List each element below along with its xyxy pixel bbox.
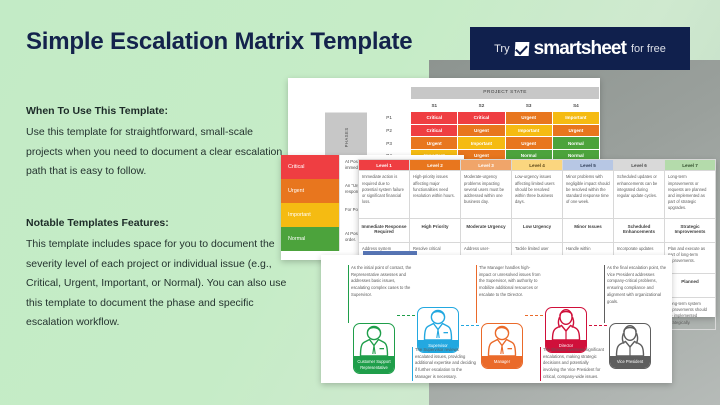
workflow-role-label: Vice President <box>610 356 650 368</box>
workflow-connector <box>397 315 415 316</box>
matrix-cell[interactable]: Urgent <box>505 112 552 125</box>
workflow-note: As the final escalation point, the Vice … <box>607 265 669 305</box>
matrix-state-S1: S1 <box>411 99 458 112</box>
level-name: High Priority <box>410 219 461 243</box>
workflow-role-label: Manager <box>482 356 522 368</box>
level-name: Low Urgency <box>512 219 563 243</box>
workflow-avatar <box>610 324 650 356</box>
workflow-badge[interactable]: Vice President <box>609 323 651 369</box>
when-to-use-block: When To Use This Template: Use this temp… <box>26 103 288 182</box>
workflow-accent-bar <box>604 265 605 323</box>
level-header[interactable]: Level 7 <box>665 160 716 171</box>
level-description: High-priority issues affecting major fun… <box>410 171 461 219</box>
matrix-cell[interactable]: Normal <box>552 137 599 150</box>
level-name: Moderate Urgency <box>461 219 512 243</box>
matrix-phase-P1: P1 <box>368 112 411 125</box>
workflow-accent-bar <box>540 347 541 381</box>
severity-key: Normal <box>281 227 339 251</box>
escalation-workflow-card[interactable]: Customer Support RepresentativeAs the in… <box>321 255 672 383</box>
matrix-cell[interactable]: Important <box>552 112 599 125</box>
matrix-cell[interactable]: Urgent <box>505 137 552 150</box>
level-header[interactable]: Level 4 <box>512 160 563 171</box>
workflow-note: The Supervisor reviews escalated issues,… <box>415 347 477 381</box>
smartsheet-wordmark: smartsheet <box>534 38 626 60</box>
workflow-role-label: Customer Support Representative <box>354 356 394 373</box>
workflow-note: The Director oversees significant escala… <box>543 347 605 381</box>
level-header[interactable]: Level 2 <box>410 160 461 171</box>
page-title: Simple Escalation Matrix Template <box>26 28 456 56</box>
level-description: Minor problems with negligible impact sh… <box>563 171 614 219</box>
levels-extra-head: Planned <box>665 274 716 298</box>
workflow-accent-bar <box>412 347 413 381</box>
matrix-state-header: PROJECT STATE <box>411 87 600 100</box>
matrix-cell[interactable]: Urgent <box>458 124 505 137</box>
level-name: Minor Issues <box>563 219 614 243</box>
level-header[interactable]: Level 6 <box>614 160 665 171</box>
workflow-avatar <box>546 308 586 340</box>
levels-extra-text: Long-term system improvements should be … <box>665 298 716 330</box>
workflow-badge[interactable]: Customer Support Representative <box>353 323 395 374</box>
workflow-avatar <box>354 324 394 356</box>
level-header[interactable]: Level 5 <box>563 160 614 171</box>
level-description: Moderate-urgency problems impacting seve… <box>461 171 512 219</box>
person-icon <box>551 308 581 340</box>
workflow-connector <box>461 325 479 326</box>
banner-forfree-label: for free <box>631 43 666 55</box>
matrix-state-S3: S3 <box>505 99 552 112</box>
level-description: Scheduled updates or enhancements can be… <box>614 171 665 219</box>
workflow-connector <box>525 315 543 316</box>
escalation-matrix-table: PROJECT STATES1S2S3S4PHASESP1CriticalCri… <box>324 86 600 163</box>
workflow-badge[interactable]: Manager <box>481 323 523 369</box>
matrix-cell[interactable]: Critical <box>458 112 505 125</box>
level-description: Immediate action is required due to pote… <box>359 171 410 219</box>
notable-features-heading: Notable Templates Features: <box>26 215 288 231</box>
severity-key: Urgent <box>281 179 339 203</box>
workflow-stage[interactable]: Manager <box>481 323 523 369</box>
levels-header-row: Level 1Level 2Level 3Level 4Level 5Level… <box>359 160 716 171</box>
workflow-connector <box>589 325 607 326</box>
person-icon <box>423 308 453 340</box>
matrix-cell[interactable]: Important <box>505 124 552 137</box>
workflow-accent-bar <box>348 265 349 323</box>
person-icon <box>615 324 645 356</box>
level-name: Scheduled Enhancements <box>614 219 665 243</box>
matrix-cell[interactable]: Urgent <box>552 124 599 137</box>
matrix-cell[interactable]: Important <box>458 137 505 150</box>
checkbox-check-icon <box>514 42 529 56</box>
workflow-stage[interactable]: Vice President <box>609 323 651 369</box>
level-action: Plan and execute as part of long-term im… <box>665 243 716 274</box>
level-name: Strategic Improvements <box>665 219 716 243</box>
levels-desc-row: Immediate action is required due to pote… <box>359 171 716 219</box>
workflow-stage[interactable]: Customer Support Representative <box>353 323 395 374</box>
person-icon <box>487 324 517 356</box>
notable-features-text: This template includes space for you to … <box>26 235 288 333</box>
level-description: Long-term improvements or requests are p… <box>665 171 716 219</box>
table-row: PHASESP1CriticalCriticalUrgentImportant <box>325 112 600 125</box>
level-name: Immediate Response Required <box>359 219 410 243</box>
workflow-avatar <box>482 324 522 356</box>
workflow-note: The Manager handles high-impact or unres… <box>479 265 541 299</box>
level-header[interactable]: Level 1 <box>359 160 410 171</box>
person-icon <box>359 324 389 356</box>
severity-key: Critical <box>281 155 339 179</box>
level-description: Low-urgency issues affecting limited use… <box>512 171 563 219</box>
banner-try-label: Try <box>494 43 509 55</box>
matrix-state-S2: S2 <box>458 99 505 112</box>
severity-key: Important <box>281 203 339 227</box>
smartsheet-cta-banner[interactable]: Try smartsheet for free <box>470 27 690 70</box>
workflow-avatar <box>418 308 458 340</box>
level-header[interactable]: Level 3 <box>461 160 512 171</box>
when-to-use-text: Use this template for straightforward, s… <box>26 123 288 182</box>
matrix-state-S4: S4 <box>552 99 599 112</box>
notable-features-block: Notable Templates Features: This templat… <box>26 215 288 333</box>
workflow-note: As the initial point of contact, the Rep… <box>351 265 413 299</box>
when-to-use-heading: When To Use This Template: <box>26 103 288 119</box>
levels-name-row: Immediate Response RequiredHigh Priority… <box>359 219 716 243</box>
matrix-phase-P3: P3 <box>368 137 411 150</box>
workflow-accent-bar <box>476 265 477 323</box>
matrix-cell[interactable]: Critical <box>411 112 458 125</box>
matrix-cell[interactable]: Urgent <box>411 137 458 150</box>
matrix-cell[interactable]: Critical <box>411 124 458 137</box>
matrix-phase-P2: P2 <box>368 124 411 137</box>
